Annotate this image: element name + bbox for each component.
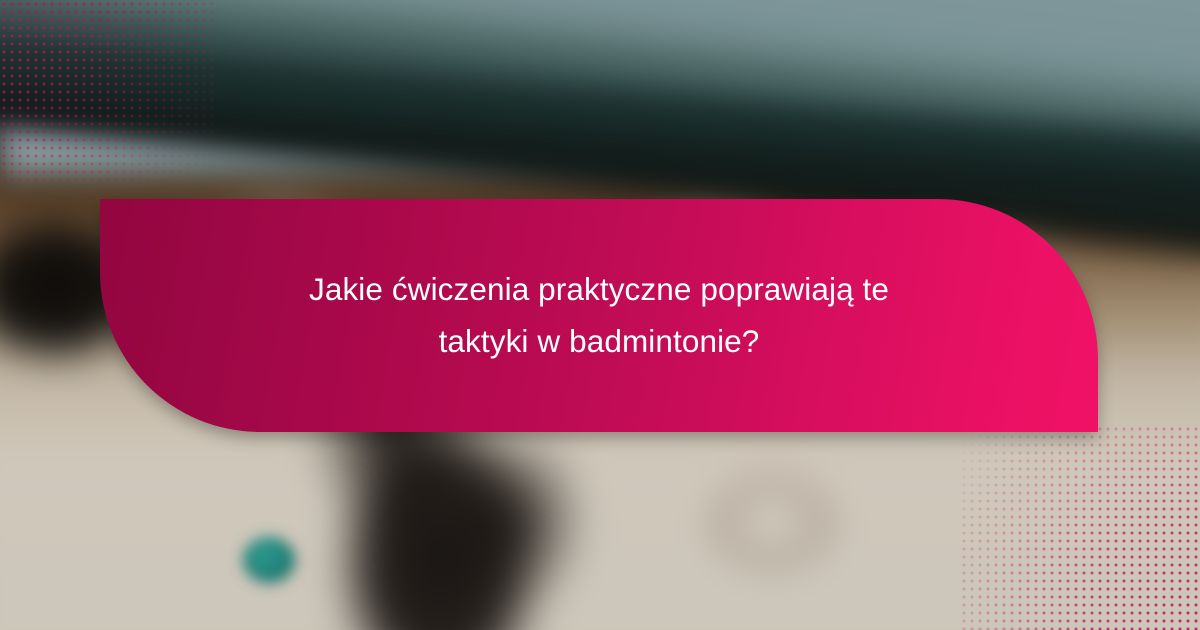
social-card-canvas: Jakie ćwiczenia praktyczne poprawiają te… <box>0 0 1200 630</box>
question-title: Jakie ćwiczenia praktyczne poprawiają te… <box>239 264 959 366</box>
background-teal-object <box>243 537 295 583</box>
question-banner: Jakie ćwiczenia praktyczne poprawiają te… <box>100 199 1098 432</box>
